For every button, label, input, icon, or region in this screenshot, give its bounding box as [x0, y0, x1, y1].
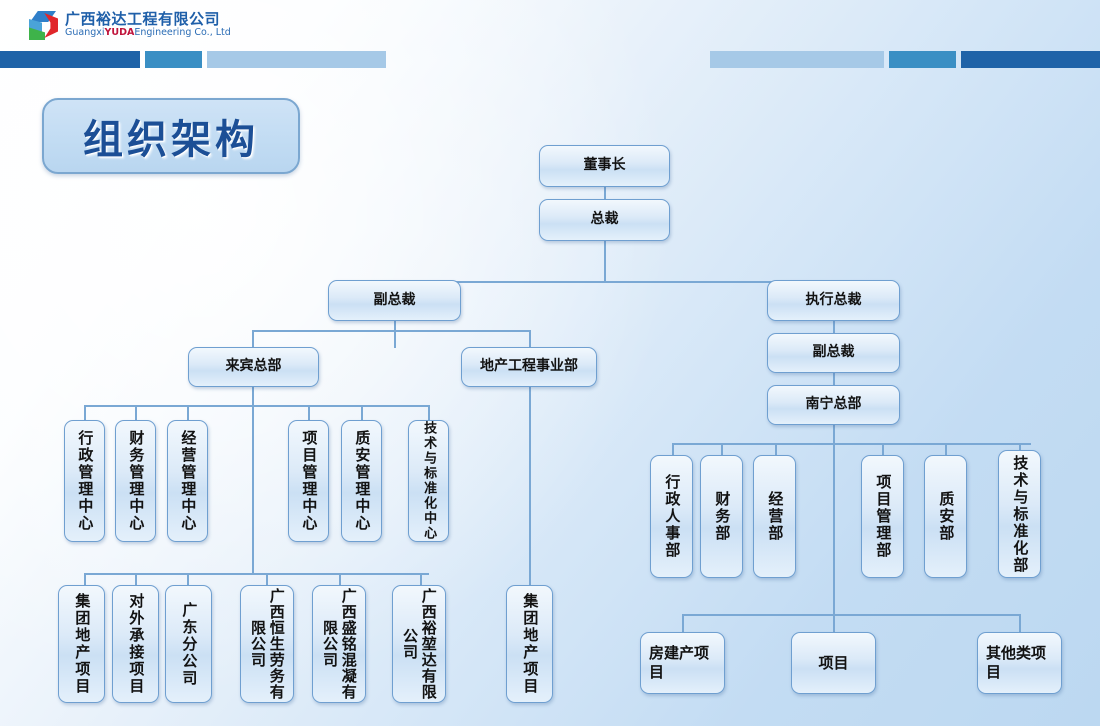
- company-name-en: GuangxiYUDAEngineering Co., Ltd: [65, 28, 231, 38]
- connector-dept-l-proj: [308, 405, 310, 420]
- connector-dept-l-qa: [361, 405, 363, 420]
- connector-dept-r-qa: [945, 443, 947, 455]
- header-bar-5: [889, 51, 956, 68]
- connector-dept-r-fin: [721, 443, 723, 455]
- company-logo-block: 广西裕达工程有限公司 GuangxiYUDAEngineering Co., L…: [28, 10, 231, 40]
- connector-bottom-r-b2: [833, 614, 835, 632]
- connector-proj-l-p6: [420, 573, 422, 585]
- node-chairman[interactable]: 董事长: [539, 145, 670, 187]
- node-nanning-finance-dept[interactable]: 财务部: [700, 455, 743, 578]
- node-external-contract-project[interactable]: 对外承接项目: [112, 585, 159, 703]
- node-hengsheng-labor-co[interactable]: 广西恒生劳务有限公司: [240, 585, 294, 703]
- page-title: 组织架构: [83, 107, 259, 165]
- connector-bus-to-laibin: [252, 330, 254, 348]
- connector-proj-l-p2: [135, 573, 137, 585]
- header-bar-2: [145, 51, 202, 68]
- node-president[interactable]: 总裁: [539, 199, 670, 241]
- connector-vpleft-bus: [252, 330, 530, 332]
- connector-bottom-r-b3: [1019, 614, 1021, 632]
- company-name-en-highlight: YUDA: [105, 27, 135, 38]
- connector-nanning-bottom-bus: [682, 614, 1019, 616]
- connector-dept-l-biz: [187, 405, 189, 420]
- header-bar-3: [207, 51, 386, 68]
- node-vp-left[interactable]: 副总裁: [328, 280, 461, 321]
- company-name-cn: 广西裕达工程有限公司: [65, 12, 231, 28]
- connector-president-bus: [394, 281, 834, 283]
- connector-proj-l-p5: [339, 573, 341, 585]
- company-name-en-post: Engineering Co., Ltd: [134, 27, 230, 38]
- node-shengming-concrete-co[interactable]: 广西盛铭混凝有限公司: [312, 585, 366, 703]
- node-project[interactable]: 项目: [791, 632, 876, 694]
- node-nanning-admin-hr-dept[interactable]: 行政人事部: [650, 455, 693, 578]
- node-laibin-tech-center[interactable]: 技术与标准化中心: [408, 420, 449, 542]
- node-vp-right[interactable]: 副总裁: [767, 333, 900, 373]
- node-nanning-tech-standard-dept[interactable]: 技术与标准化部: [998, 450, 1041, 578]
- node-laibin-hq[interactable]: 来宾总部: [188, 347, 319, 387]
- node-nanning-hq[interactable]: 南宁总部: [767, 385, 900, 425]
- connector-proj-l-p3: [187, 573, 189, 585]
- connector-realestate-to-project: [529, 386, 531, 585]
- connector-dept-l-admin: [84, 405, 86, 420]
- connector-bus-to-realestate: [529, 330, 531, 348]
- node-guangdong-branch[interactable]: 广东分公司: [165, 585, 212, 703]
- header-bar-6: [961, 51, 1100, 68]
- node-laibin-qa-center[interactable]: 质安管理中心: [341, 420, 382, 542]
- header-bar-4: [710, 51, 884, 68]
- connector-vpleft-down: [394, 320, 396, 348]
- node-nanning-project-dept[interactable]: 项目管理部: [861, 455, 904, 578]
- connector-dept-l-tech: [428, 405, 430, 420]
- company-name-block: 广西裕达工程有限公司 GuangxiYUDAEngineering Co., L…: [65, 12, 231, 39]
- connector-exec-vpright: [833, 320, 835, 334]
- company-name-en-pre: Guangxi: [65, 27, 105, 38]
- node-housing-project[interactable]: 房建产项目: [640, 632, 725, 694]
- page-title-plaque: 组织架构: [42, 98, 300, 174]
- connector-dept-l-finance: [135, 405, 137, 420]
- connector-nanning-trunk: [833, 424, 835, 614]
- node-nanning-business-dept[interactable]: 经营部: [753, 455, 796, 578]
- node-exec-president[interactable]: 执行总裁: [767, 280, 900, 321]
- connector-bottom-r-b1: [682, 614, 684, 632]
- connector-dept-r-proj: [882, 443, 884, 455]
- connector-laibin-trunk: [252, 386, 254, 573]
- node-nanning-qa-dept[interactable]: 质安部: [924, 455, 967, 578]
- slide-canvas: 广西裕达工程有限公司 GuangxiYUDAEngineering Co., L…: [0, 0, 1100, 726]
- node-group-realestate-project-division[interactable]: 集团地产项目: [506, 585, 553, 703]
- connector-vpright-nanning: [833, 372, 835, 386]
- connector-proj-l-p4: [266, 573, 268, 585]
- node-laibin-finance-center[interactable]: 财务管理中心: [115, 420, 156, 542]
- node-laibin-project-center[interactable]: 项目管理中心: [288, 420, 329, 542]
- node-laibin-admin-center[interactable]: 行政管理中心: [64, 420, 105, 542]
- cube-logo-icon: [28, 10, 58, 40]
- header-bar-1: [0, 51, 140, 68]
- connector-dept-r-biz: [775, 443, 777, 455]
- node-realestate-division[interactable]: 地产工程事业部: [461, 347, 597, 387]
- connector-dept-r-admin: [672, 443, 674, 455]
- node-yukunda-co[interactable]: 广西裕堃达有限公司: [392, 585, 446, 703]
- node-laibin-business-center[interactable]: 经营管理中心: [167, 420, 208, 542]
- connector-proj-l-p1: [84, 573, 86, 585]
- connector-nanning-dept-bus: [672, 443, 1031, 445]
- node-other-project[interactable]: 其他类项目: [977, 632, 1062, 694]
- connector-president-down: [604, 240, 606, 281]
- node-group-realestate-project-left[interactable]: 集团地产项目: [58, 585, 105, 703]
